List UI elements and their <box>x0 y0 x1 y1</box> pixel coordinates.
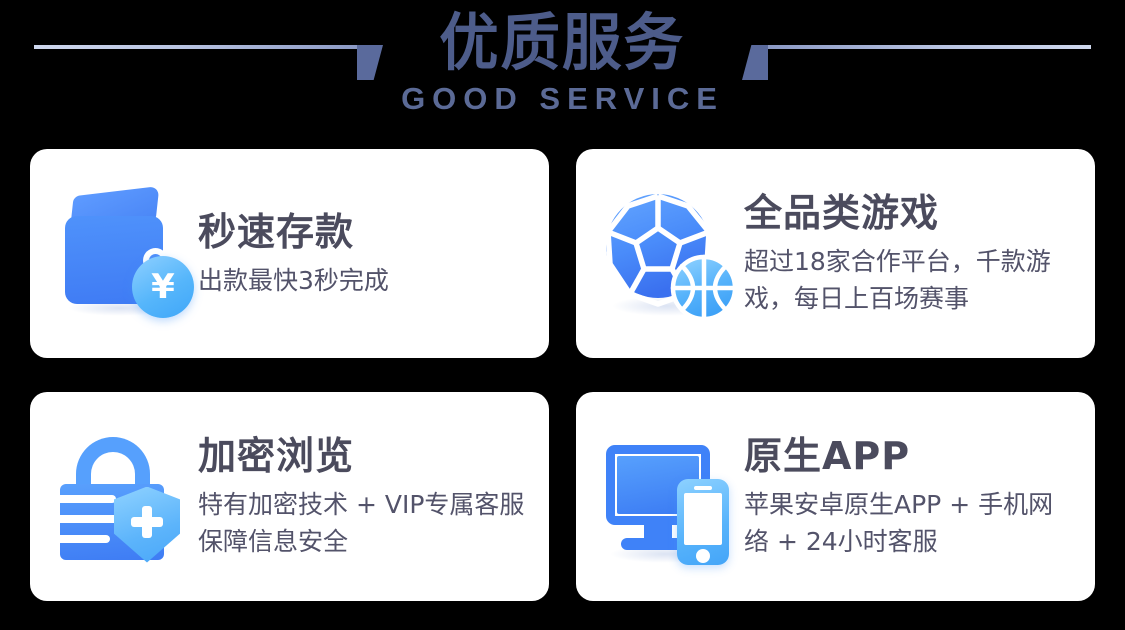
wallet-yen-icon: ¥ <box>54 184 192 324</box>
card-title: 原生APP <box>744 433 1074 479</box>
card-title: 全品类游戏 <box>744 190 1077 236</box>
phone-screen-shape <box>684 493 722 545</box>
card-description: 超过18家合作平台，千款游戏，每日上百场赛事 <box>744 243 1077 317</box>
phone-speaker-slot <box>694 486 712 490</box>
basketball-seams <box>673 257 735 319</box>
feature-card-native-app[interactable]: 原生APP 苹果安卓原生APP + 手机网络 + 24小时客服 <box>576 392 1095 601</box>
card-description: 苹果安卓原生APP + 手机网络 + 24小时客服 <box>744 486 1074 560</box>
card-description: 特有加密技术 + VIP专属客服保障信息安全 <box>198 486 528 560</box>
yen-symbol: ¥ <box>151 270 175 304</box>
card-text-block: 加密浏览 特有加密技术 + VIP专属客服保障信息安全 <box>192 433 528 560</box>
yen-coin-icon: ¥ <box>132 256 194 318</box>
card-description: 出款最快3秒完成 <box>198 262 389 299</box>
promo-banner: 优质服务 GOOD SERVICE ¥ 秒速存款 出款最快3秒完成 <box>0 0 1125 630</box>
monitor-phone-icon <box>600 427 738 567</box>
card-title: 秒速存款 <box>198 209 389 255</box>
banner-title: 优质服务 <box>440 6 686 80</box>
card-title: 加密浏览 <box>198 433 528 479</box>
card-text-block: 全品类游戏 超过18家合作平台，千款游戏，每日上百场赛事 <box>738 190 1077 317</box>
lock-shield-icon <box>54 427 192 567</box>
feature-card-encryption[interactable]: 加密浏览 特有加密技术 + VIP专属客服保障信息安全 <box>30 392 549 601</box>
lock-slot-line <box>60 495 116 503</box>
phone-home-button <box>696 549 710 563</box>
card-text-block: 原生APP 苹果安卓原生APP + 手机网络 + 24小时客服 <box>738 433 1074 560</box>
card-text-block: 秒速存款 出款最快3秒完成 <box>192 209 389 299</box>
feature-card-grid: ¥ 秒速存款 出款最快3秒完成 <box>30 149 1095 601</box>
banner-subtitle: GOOD SERVICE <box>401 82 724 116</box>
soccer-basketball-icon <box>600 184 738 324</box>
plus-cross-icon <box>131 506 163 538</box>
feature-card-deposit[interactable]: ¥ 秒速存款 出款最快3秒完成 <box>30 149 549 358</box>
banner-header: 优质服务 GOOD SERVICE <box>0 0 1125 146</box>
feature-card-games[interactable]: 全品类游戏 超过18家合作平台，千款游戏，每日上百场赛事 <box>576 149 1095 358</box>
lock-slot-line <box>60 535 110 543</box>
balls-vector <box>600 184 738 324</box>
